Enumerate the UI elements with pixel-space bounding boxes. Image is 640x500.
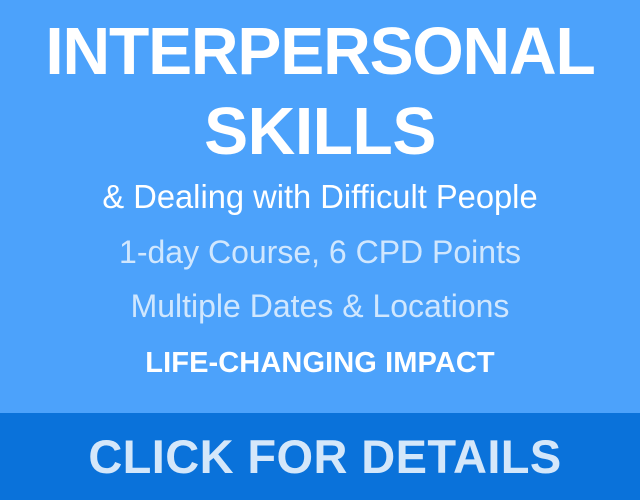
advertisement-banner[interactable]: INTERPERSONAL SKILLS & Dealing with Diff…: [0, 0, 640, 500]
dates-locations-line: Multiple Dates & Locations: [0, 289, 640, 323]
headline-line-1: INTERPERSONAL: [5, 21, 635, 83]
impact-tagline: LIFE-CHANGING IMPACT: [0, 347, 640, 379]
banner-subtitle: & Dealing with Difficult People: [3, 179, 637, 215]
course-duration-line: 1-day Course, 6 CPD Points: [0, 235, 640, 269]
banner-content: INTERPERSONAL SKILLS & Dealing with Diff…: [0, 0, 640, 413]
cta-button[interactable]: CLICK FOR DETAILS: [0, 413, 640, 500]
cta-button-label: CLICK FOR DETAILS: [78, 432, 561, 482]
headline-line-2: SKILLS: [5, 101, 635, 163]
